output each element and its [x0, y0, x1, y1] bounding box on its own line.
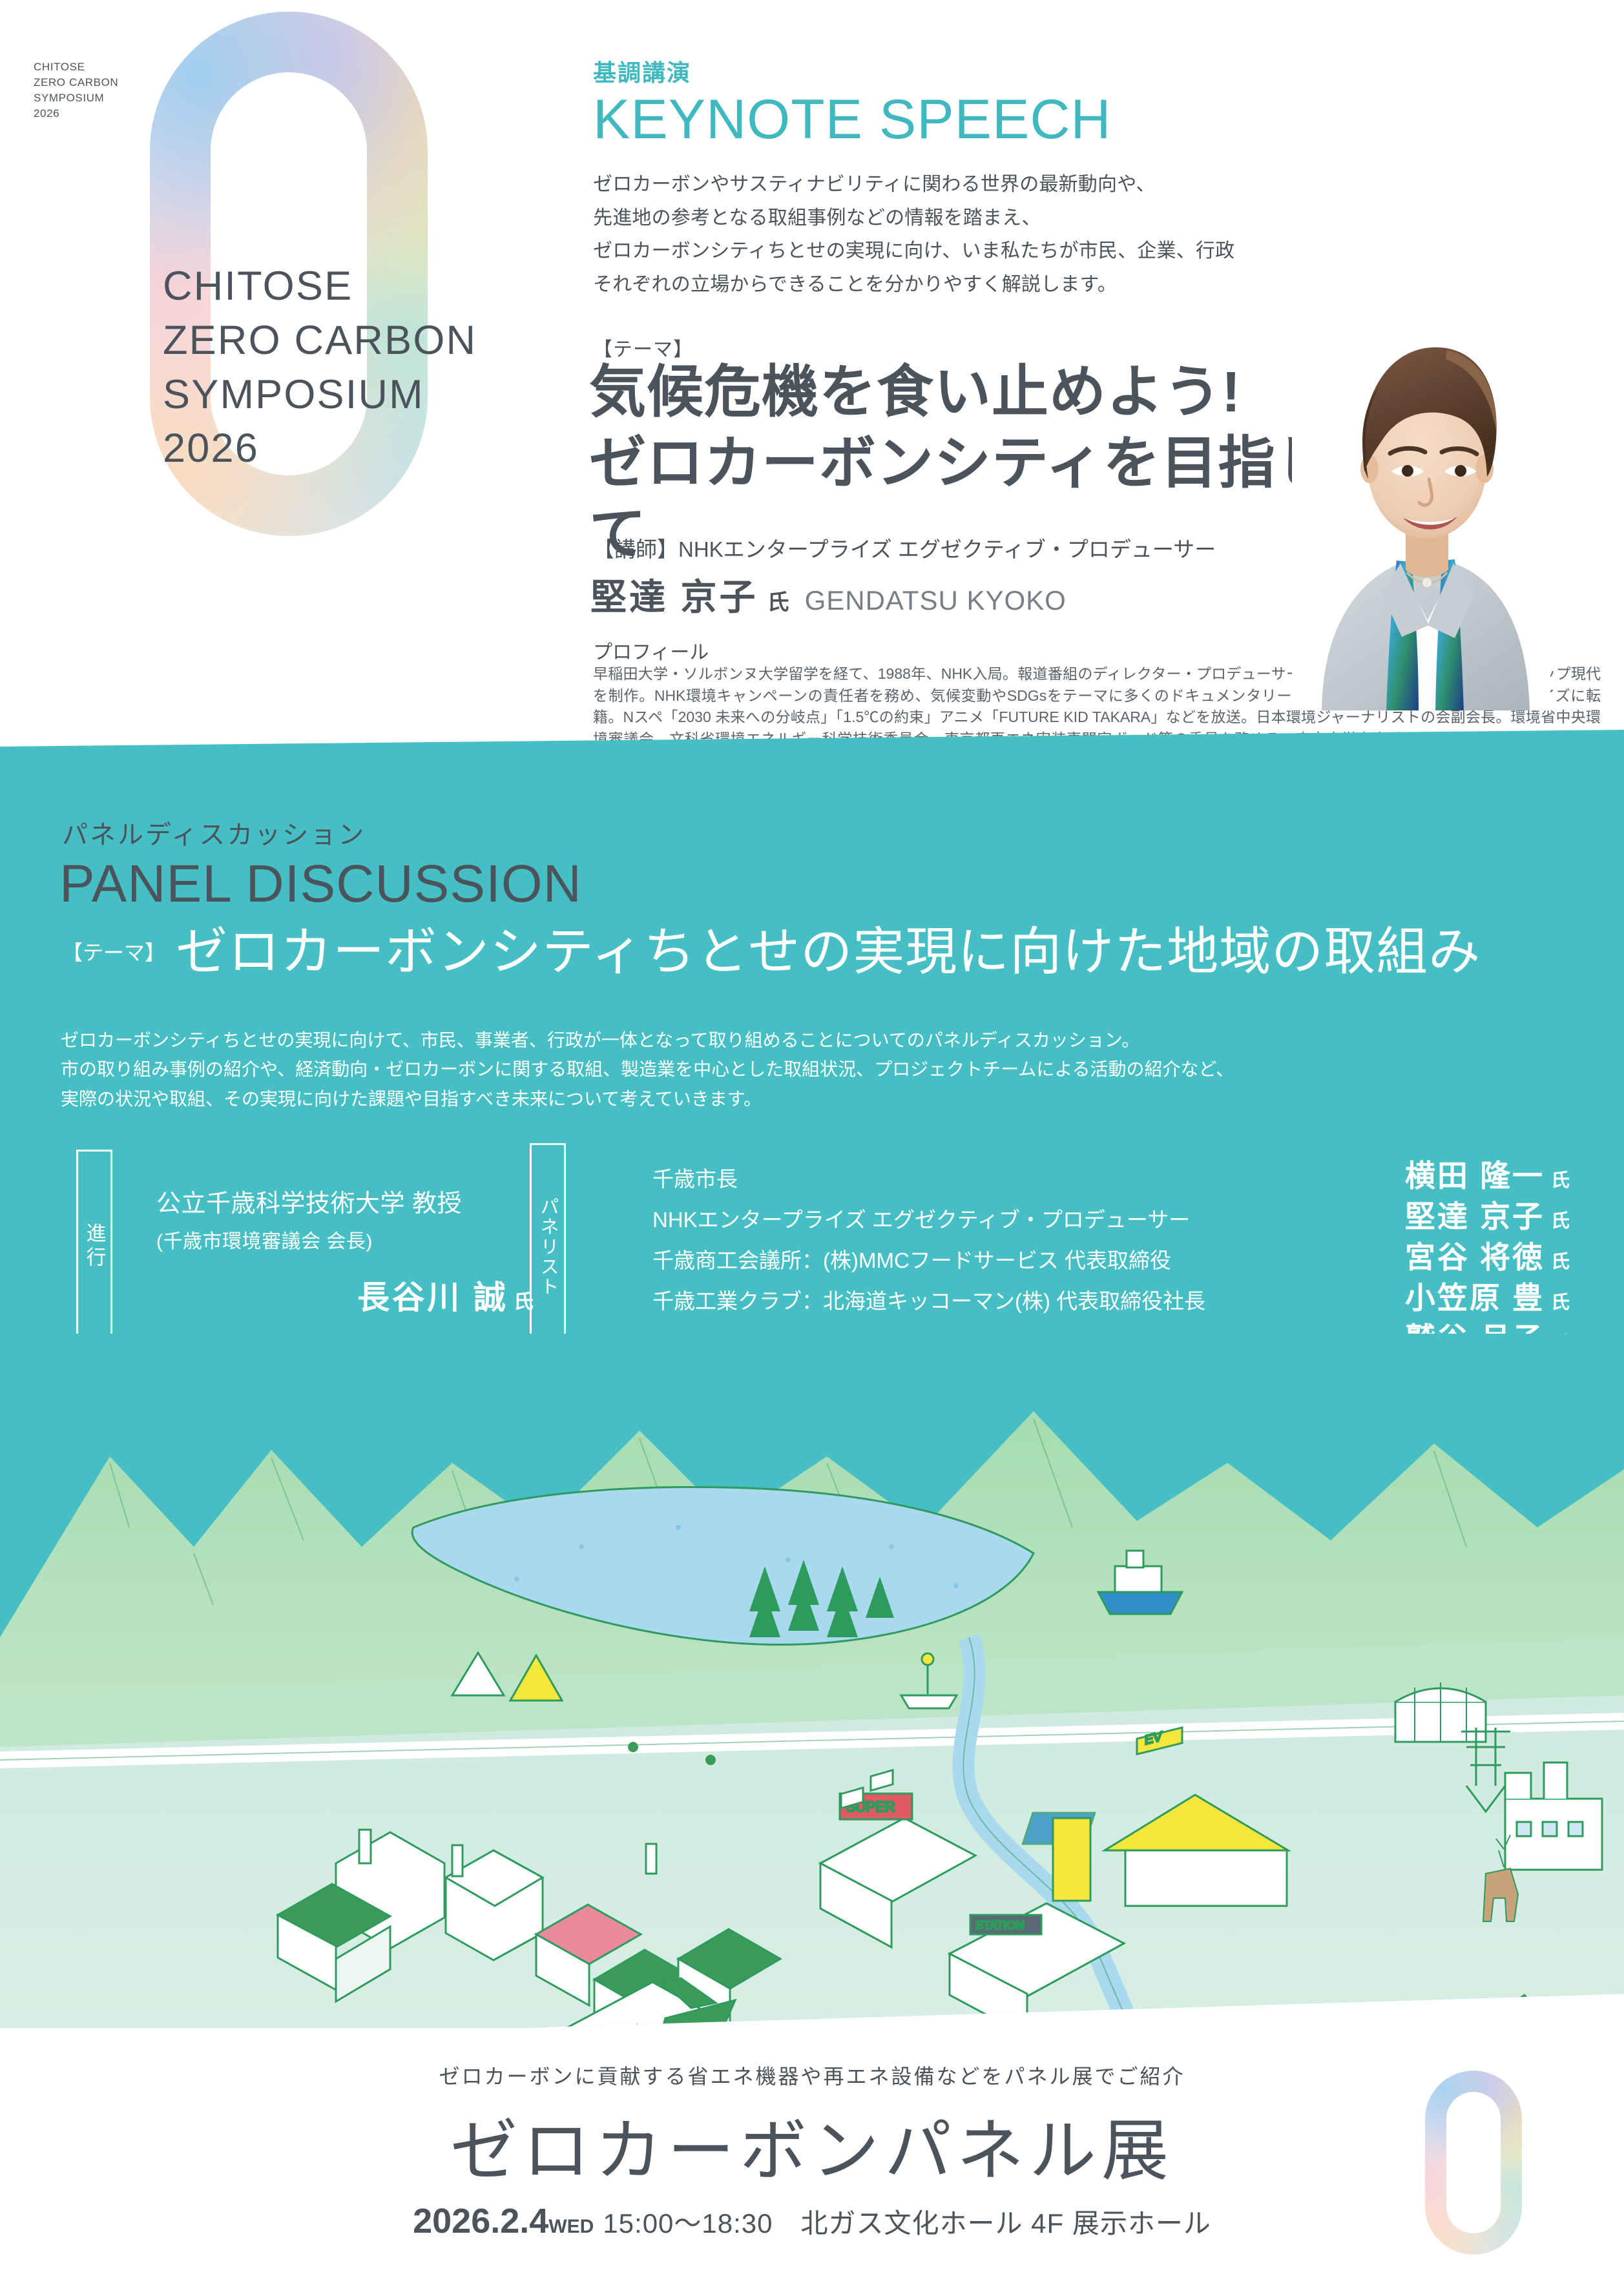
panel-label-en: PANEL DISCUSSION — [59, 854, 582, 915]
expo-day-of-week: WED — [548, 2216, 594, 2237]
symposium-logo-small — [1425, 2071, 1522, 2255]
moderator-affiliation: 公立千歳科学技術大学 教授 — [156, 1183, 557, 1219]
profile-heading: プロフィール — [593, 636, 709, 665]
lecturer-name-ja: 堅達 京子 — [590, 568, 758, 621]
panel-theme-tag: 【テーマ】 — [62, 936, 165, 980]
lecturer-role: 【講師】NHKエンタープライズ エグゼクティブ・プロデューサー — [593, 532, 1216, 563]
moderator-label-box: 進行 — [76, 1150, 112, 1343]
panelist-label: パネリスト — [534, 1197, 561, 1297]
keynote-section: CHITOSE ZERO CARBON SYMPOSIUM 2026 基調講演 … — [0, 0, 1624, 833]
symposium-logo-small-title: CHITOSE ZERO CARBON SYMPOSIUM 2026 — [34, 59, 124, 122]
panel-theme-row: 【テーマ】 ゼロカーボンシティちとせの実現に向けた地域の取組み — [62, 924, 1481, 980]
svg-text:STATION: STATION — [975, 1919, 1024, 1932]
panelist-role: NHKエンタープライズ エグゼクティブ・プロデューサー — [652, 1203, 1190, 1234]
expo-date: 2026.2.4 — [413, 2202, 548, 2240]
panelist-role: 千歳商工会議所：(株)MMCフードサービス 代表取締役 — [652, 1243, 1171, 1274]
panelist-name-wrap: 横田 隆一 氏 — [1405, 1151, 1570, 1195]
moderator-label: 進行 — [80, 1223, 109, 1270]
keynote-description: ゼロカーボンやサスティナビリティに関わる世界の最新動向や、 先進地の参考となる取… — [593, 168, 1601, 301]
panelist-label-box: パネリスト — [530, 1143, 566, 1350]
keynote-header: 基調講演 KEYNOTE SPEECH ゼロカーボンやサスティナビリティに関わる… — [593, 54, 1601, 302]
list-item: NHKエンタープライズ エグゼクティブ・プロデューサー 堅達 京子 氏 — [652, 1192, 1570, 1232]
panelist-name-suffix: 氏 — [1551, 1287, 1570, 1314]
expo-title: ゼロカーボンパネル展 — [0, 2096, 1624, 2193]
moderator-affiliation-sub: (千歳市環境審議会 会長) — [156, 1225, 557, 1254]
panelist-name-suffix: 氏 — [1551, 1206, 1570, 1233]
panelist-role: 千歳市長 — [652, 1162, 738, 1193]
expo-lead-text: ゼロカーボンに貢献する省エネ機器や再エネ設備などをパネル展でご紹介 — [0, 2060, 1624, 2090]
panelist-name-wrap: 堅達 京子 氏 — [1405, 1192, 1570, 1236]
panel-label-ja: パネルディスカッション — [62, 814, 366, 851]
panel-theme-title: ゼロカーボンシティちとせの実現に向けた地域の取組み — [176, 924, 1481, 980]
expo-info-line: 2026.2.4WED15:00〜18:30 北ガス文化ホール 4F 展示ホール — [0, 2201, 1624, 2241]
list-item: 千歳市長 横田 隆一 氏 — [652, 1151, 1570, 1192]
panelist-name-suffix: 氏 — [1551, 1246, 1570, 1274]
keynote-label-ja: 基調講演 — [593, 54, 1601, 88]
panelist-name-wrap: 宮谷 将徳 氏 — [1405, 1232, 1570, 1277]
panelist-name: 小笠原 豊 — [1405, 1273, 1545, 1318]
list-item: 千歳工業クラブ：北海道キッコーマン(株) 代表取締役社長 小笠原 豊 氏 — [652, 1273, 1570, 1314]
panelist-name: 宮谷 将徳 — [1405, 1232, 1545, 1277]
panelist-name: 横田 隆一 — [1405, 1151, 1545, 1195]
logo-small-inner-counter — [1446, 2092, 1501, 2233]
moderator-name: 長谷川 誠 — [357, 1279, 508, 1316]
moderator-name-row: 長谷川 誠氏 — [156, 1272, 557, 1318]
lecturer-name-line: 堅達 京子 氏 GENDATSU KYOKO — [590, 568, 1067, 621]
lecturer-portrait-photo — [1292, 316, 1550, 710]
panelist-name-wrap: 小笠原 豊 氏 — [1405, 1273, 1570, 1318]
panelist-list: 千歳市長 横田 隆一 氏 NHKエンタープライズ エグゼクティブ・プロデューサー… — [652, 1151, 1570, 1354]
expo-details: 15:00〜18:30 北ガス文化ホール 4F 展示ホール — [603, 2208, 1211, 2239]
panelist-name: 堅達 京子 — [1405, 1192, 1545, 1236]
lecturer-name-suffix: 氏 — [767, 584, 789, 616]
panel-description: ゼロカーボンシティちとせの実現に向けて、市民、事業者、行政が一体となって取り組め… — [61, 1026, 1572, 1113]
lecturer-name-en: GENDATSU KYOKO — [805, 585, 1067, 616]
list-item: 千歳商工会議所：(株)MMCフードサービス 代表取締役 宮谷 将徳 氏 — [652, 1232, 1570, 1273]
zero-carbon-city-illustration: SUPER STATION EV — [0, 1334, 1624, 2044]
panelist-role: 千歳工業クラブ：北海道キッコーマン(株) 代表取締役社長 — [652, 1284, 1205, 1315]
moderator-info: 公立千歳科学技術大学 教授 (千歳市環境審議会 会長) 長谷川 誠氏 — [156, 1183, 557, 1318]
symposium-logo-title: CHITOSE ZERO CARBON SYMPOSIUM 2026 — [163, 260, 576, 476]
panelist-name-suffix: 氏 — [1551, 1165, 1570, 1192]
keynote-label-en: KEYNOTE SPEECH — [593, 90, 1601, 149]
